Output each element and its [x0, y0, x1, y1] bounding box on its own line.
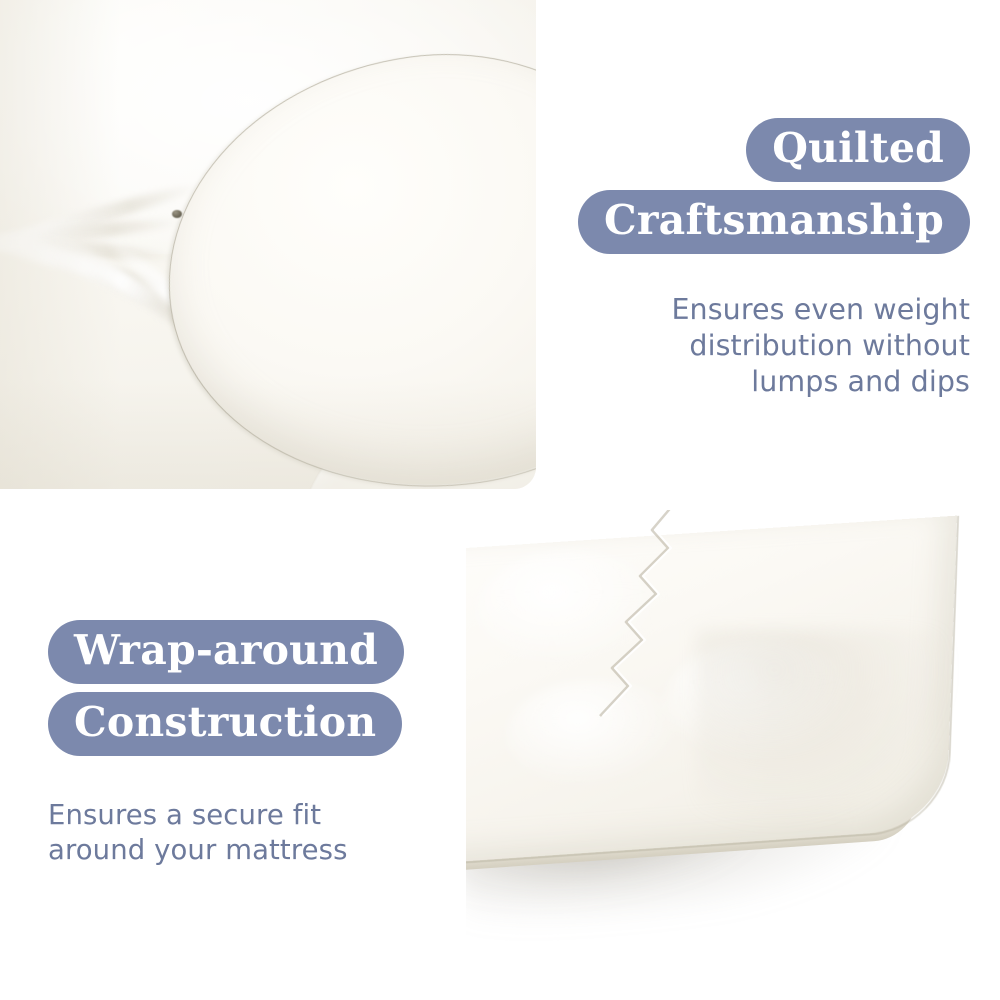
cushion-bottom-shading [0, 379, 536, 489]
feature-quilted-craftsmanship: Quilted Craftsmanship Ensures even weigh… [560, 118, 970, 400]
quilted-cushion-photo [0, 0, 536, 489]
pill-row-line-2: Craftsmanship [560, 182, 970, 254]
pill-row-line-1: Wrap-around [48, 620, 468, 684]
feature-wrap-around-construction: Wrap-around Construction Ensures a secur… [48, 620, 468, 867]
feature-pill-quilted: Quilted [746, 118, 970, 182]
feature-description-quilted: Ensures even weight distribution without… [560, 292, 970, 400]
zigzag-stitch-icon [556, 510, 736, 744]
pill-row-line-1: Quilted [560, 118, 970, 182]
mattress-pad-photo [466, 510, 1000, 1000]
pill-row-line-2: Construction [48, 684, 468, 756]
feature-pill-wrap-around: Wrap-around [48, 620, 404, 684]
infographic-page: Quilted Craftsmanship Ensures even weigh… [0, 0, 1000, 1000]
feature-pill-construction: Construction [48, 692, 402, 756]
feature-pill-craftsmanship: Craftsmanship [578, 190, 970, 254]
feature-description-wrap-around: Ensures a secure fit around your mattres… [48, 798, 468, 867]
tuft-button-icon [172, 210, 182, 218]
